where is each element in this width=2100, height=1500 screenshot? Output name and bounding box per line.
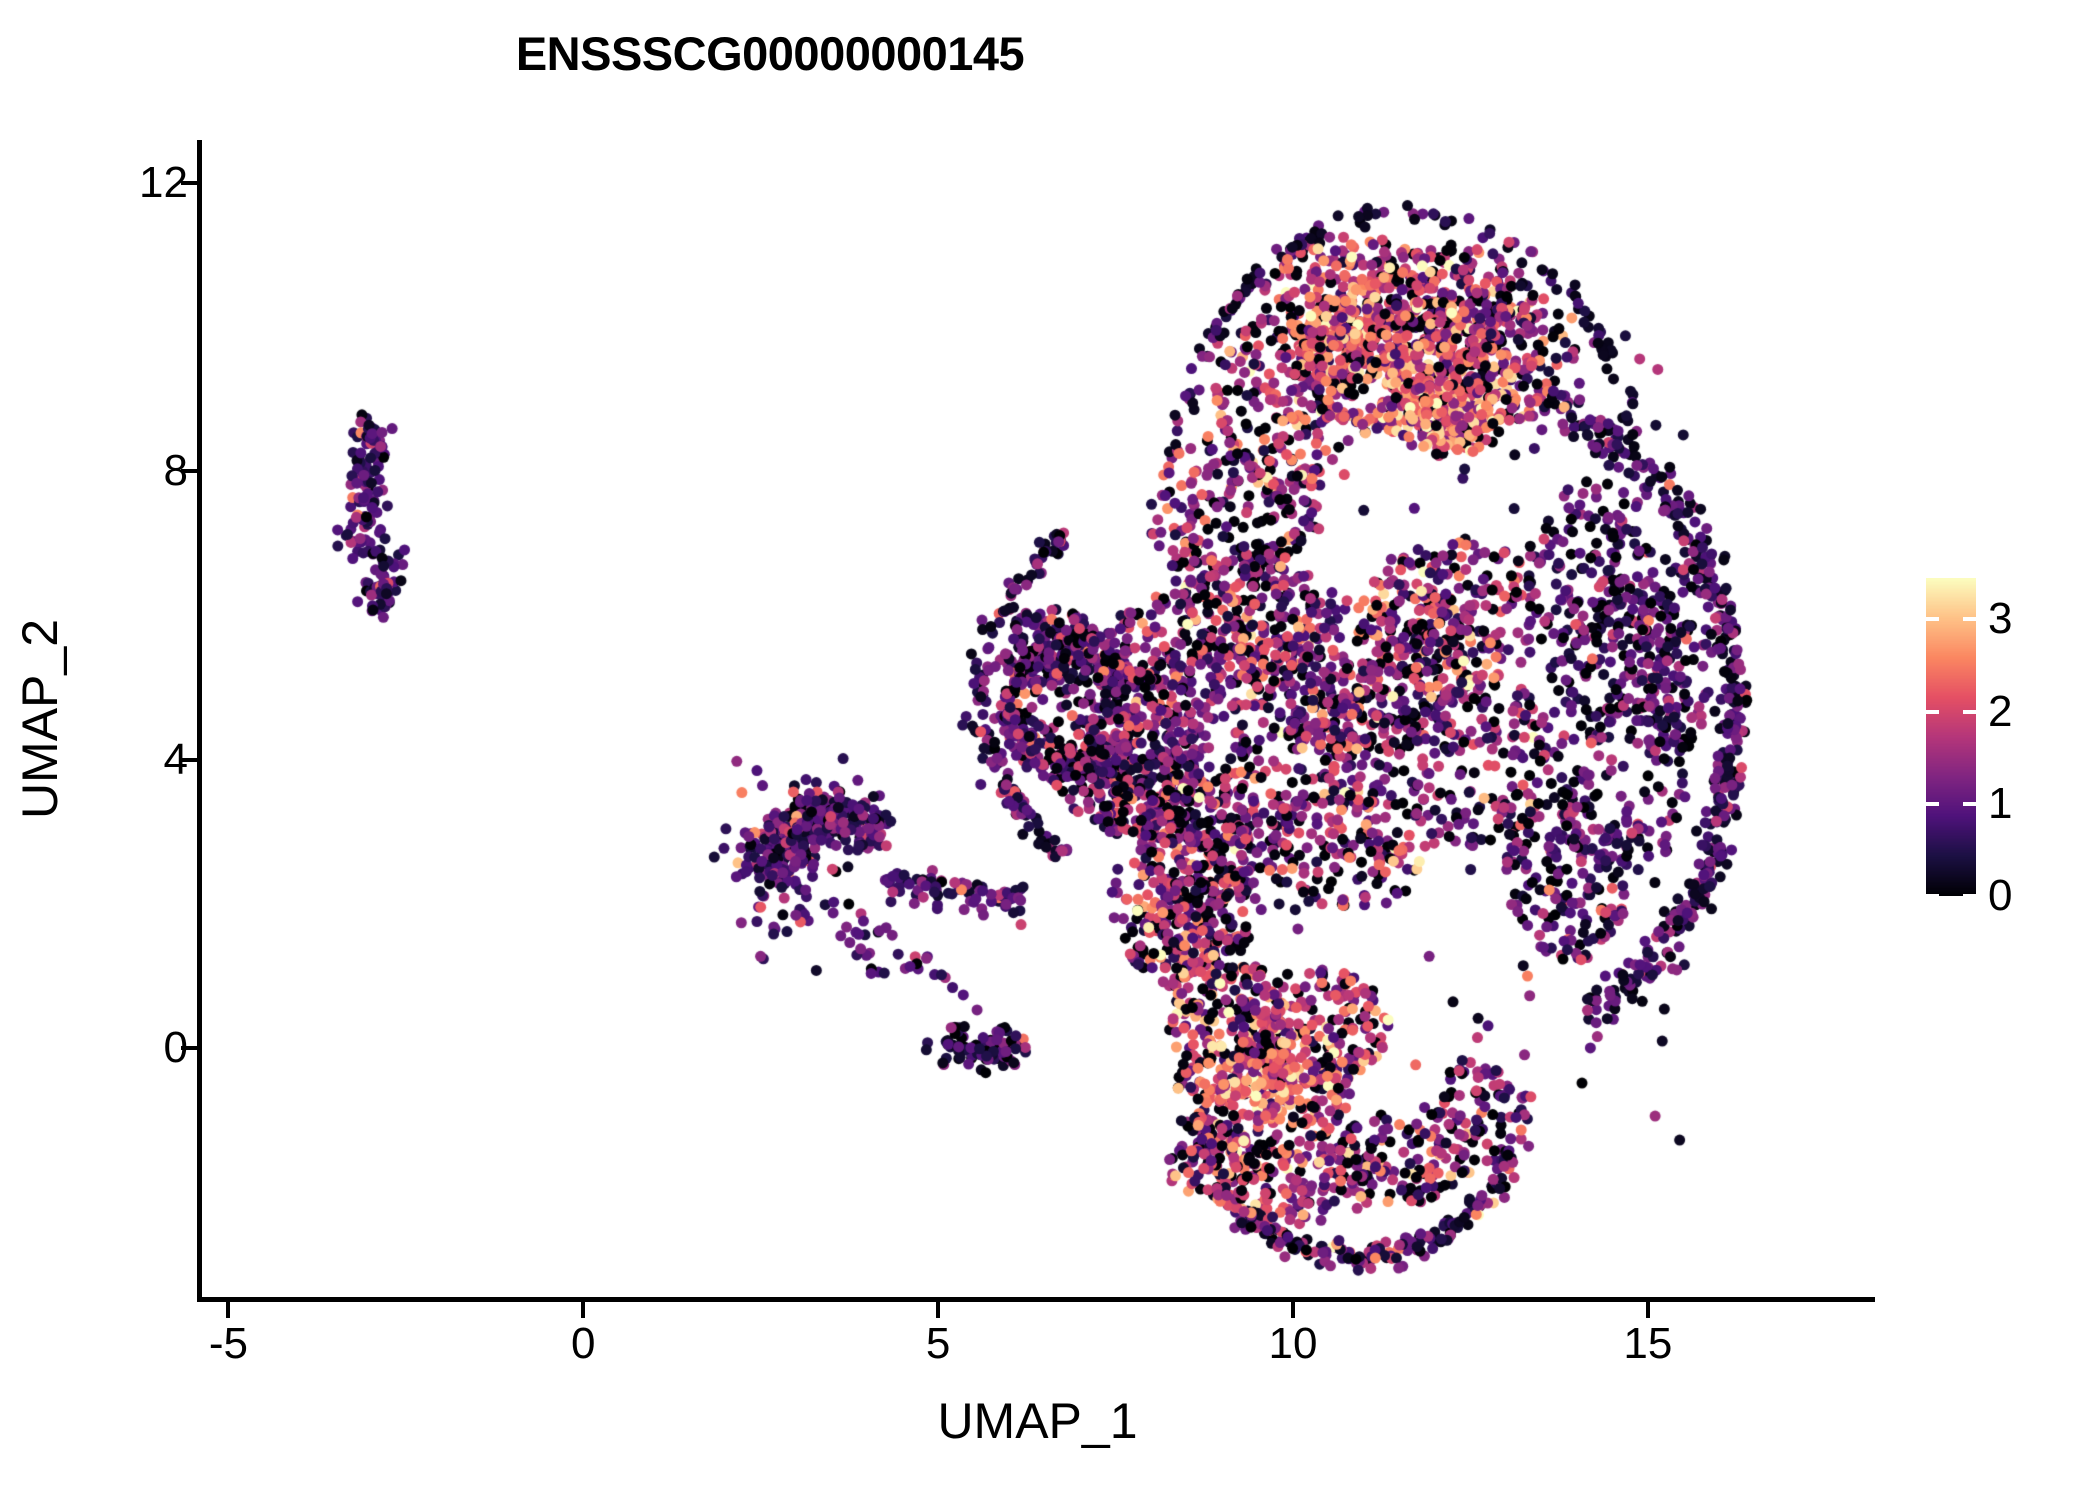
x-tick-mark — [1646, 1302, 1650, 1318]
x-tick-label: 10 — [1233, 1322, 1353, 1366]
x-tick-label: 15 — [1588, 1322, 1708, 1366]
y-axis-label: UMAP_2 — [11, 139, 69, 1299]
y-tick-label: 4 — [164, 738, 188, 782]
colorbar-gradient — [1926, 578, 1976, 896]
x-tick-mark — [936, 1302, 940, 1318]
x-axis-label: UMAP_1 — [200, 1392, 1875, 1450]
page-title: ENSSSCG00000000145 — [0, 26, 1540, 81]
colorbar-tick-label: 3 — [1988, 597, 2012, 641]
x-tick-mark — [581, 1302, 585, 1318]
x-tick-label: 5 — [878, 1322, 998, 1366]
plot-panel — [200, 140, 1875, 1300]
y-tick-label: 8 — [164, 449, 188, 493]
x-tick-label: -5 — [168, 1322, 288, 1366]
y-axis-line — [197, 140, 202, 1302]
x-tick-label: 0 — [523, 1322, 643, 1366]
colorbar-tick-label: 0 — [1988, 874, 2012, 918]
y-tick-label: 12 — [139, 161, 188, 205]
x-tick-mark — [226, 1302, 230, 1318]
y-tick-label: 0 — [164, 1026, 188, 1070]
colorbar-tick-label: 1 — [1988, 782, 2012, 826]
umap-feature-plot-figure: ENSSSCG00000000145 04812 -5051015 UMAP_1… — [0, 0, 2100, 1500]
x-axis-line — [197, 1297, 1875, 1302]
scatter-plot-canvas — [200, 140, 1875, 1300]
colorbar-tick-label: 2 — [1988, 690, 2012, 734]
colorbar-legend: 0123 — [1920, 570, 2080, 910]
x-tick-mark — [1291, 1302, 1295, 1318]
